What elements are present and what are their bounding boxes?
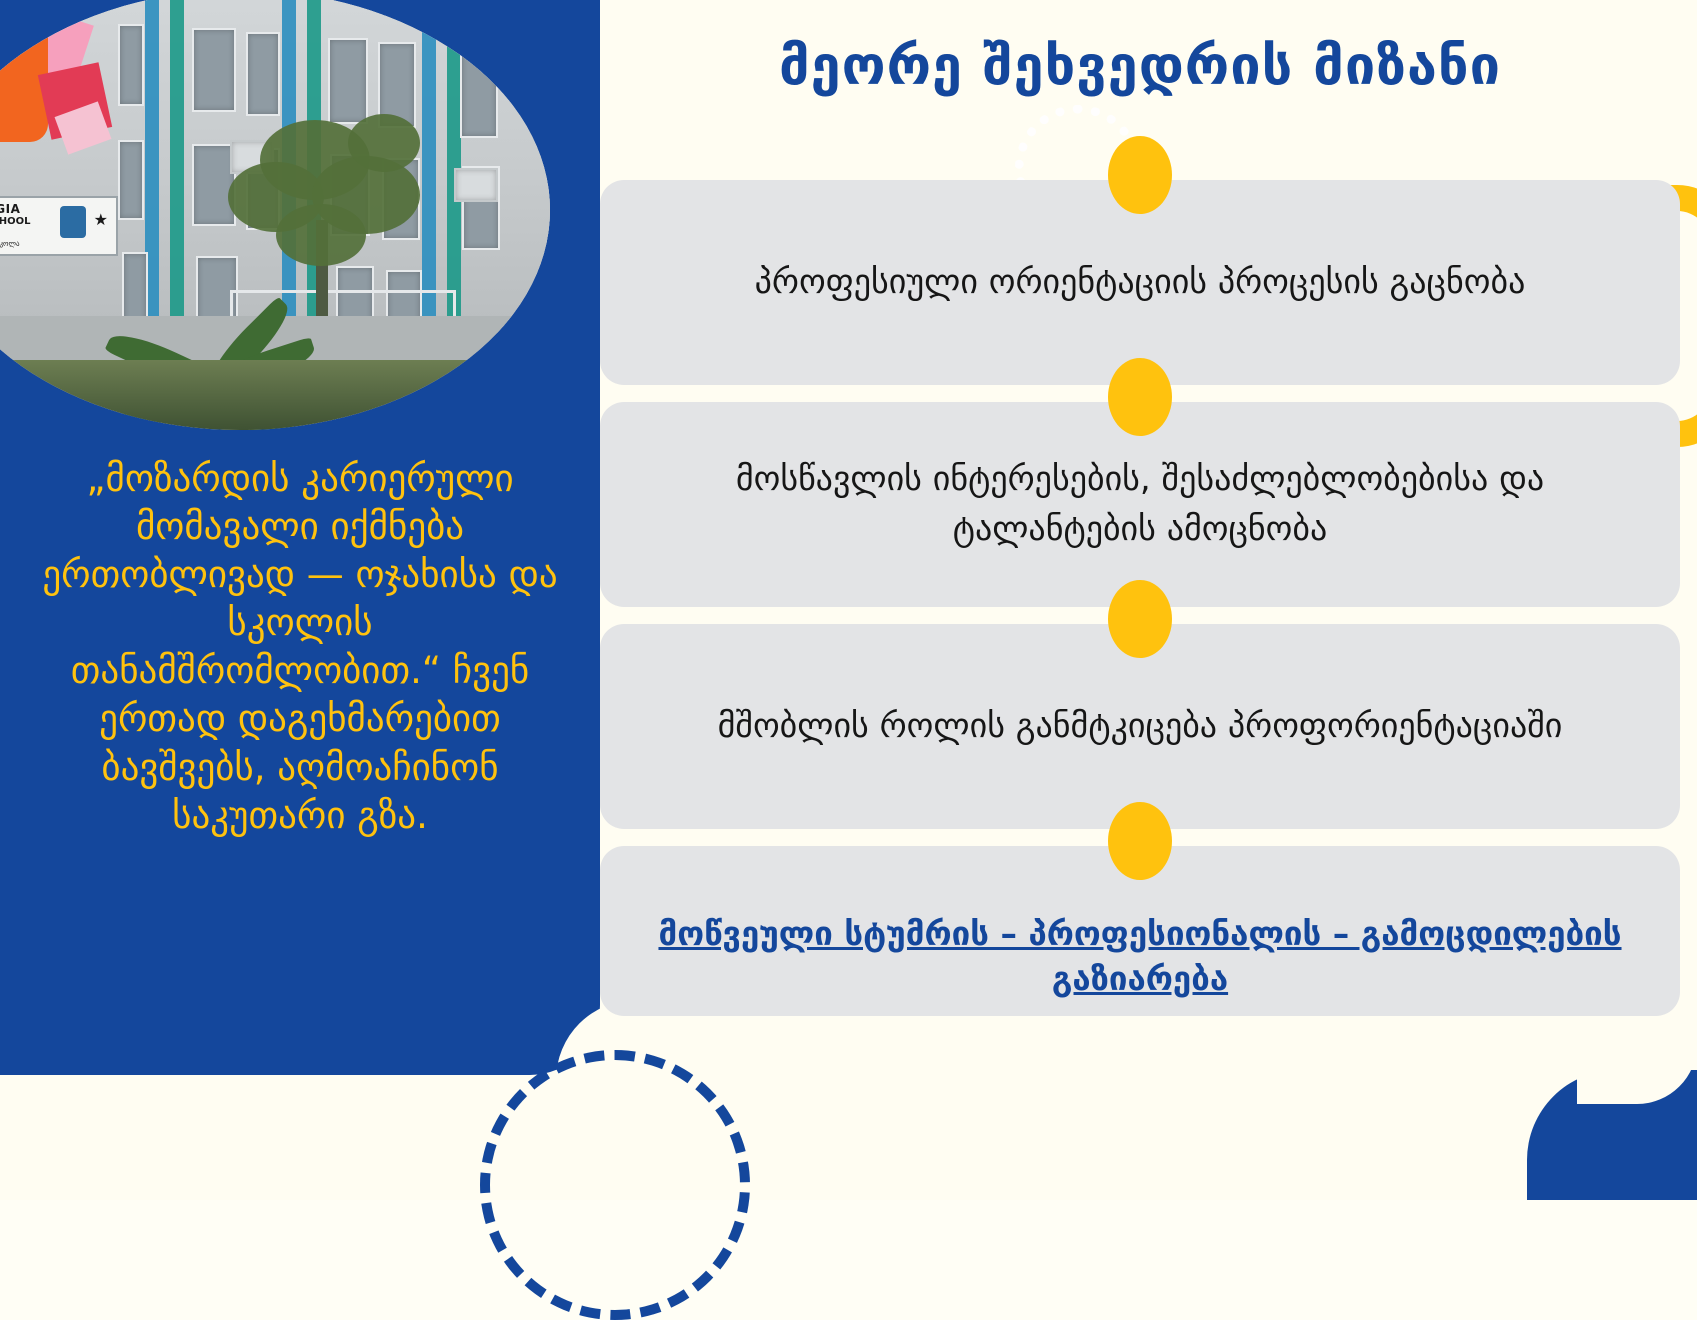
step-item: მშობლის როლის განმტკიცება პროფორიენტაცია… bbox=[600, 624, 1680, 829]
steps-flow: პროფესიული ორიენტაციის პროცესის გაცნობა … bbox=[600, 180, 1680, 1033]
ac-unit bbox=[454, 168, 498, 202]
step-item: პროფესიული ორიენტაციის პროცესის გაცნობა bbox=[600, 180, 1680, 385]
quote-text: „მოზარდის კარიერული მომავალი იქმნება ერთ… bbox=[0, 455, 600, 840]
step-item: მოსწავლის ინტერესების, შესაძლებლობებისა … bbox=[600, 402, 1680, 607]
step-dot-icon bbox=[1108, 802, 1172, 880]
mural-artwork bbox=[0, 10, 110, 180]
window bbox=[118, 140, 144, 220]
window bbox=[460, 50, 498, 138]
sign-line-4: ბაცილიტირებული სკოლა bbox=[0, 240, 20, 248]
left-panel: CA GEORGIA ILITATED SCHOOL ლშევნების ფონ… bbox=[0, 0, 600, 1075]
step-link-text[interactable]: მოწვეული სტუმრის – პროფესიონალის – გამოც… bbox=[646, 911, 1634, 1002]
school-sign: CA GEORGIA ILITATED SCHOOL ლშევნების ფონ… bbox=[0, 196, 118, 256]
facade-stripe bbox=[170, 0, 184, 333]
step-dot-icon bbox=[1108, 136, 1172, 214]
step-dot-icon bbox=[1108, 580, 1172, 658]
school-building-photo: CA GEORGIA ILITATED SCHOOL ლშევნების ფონ… bbox=[0, 0, 550, 430]
step-text: მოსწავლის ინტერესების, შესაძლებლობებისა … bbox=[646, 455, 1634, 554]
window bbox=[118, 24, 144, 106]
emblem-icon bbox=[60, 206, 86, 238]
building-block: CA GEORGIA ILITATED SCHOOL ლშევნების ფონ… bbox=[0, 0, 550, 333]
step-dot-icon bbox=[1108, 358, 1172, 436]
page-title: მეორე შეხვედრის მიზანი bbox=[600, 34, 1680, 97]
sign-line-2: ILITATED SCHOOL bbox=[0, 216, 31, 227]
hedge bbox=[0, 360, 550, 430]
step-text: მშობლის როლის განმტკიცება პროფორიენტაცია… bbox=[718, 702, 1563, 751]
slide-canvas: CA GEORGIA ILITATED SCHOOL ლშევნების ფონ… bbox=[0, 0, 1697, 1200]
blue-dashed-circle-decoration bbox=[480, 1050, 750, 1320]
step-item: მოწვეული სტუმრის – პროფესიონალის – გამოც… bbox=[600, 846, 1680, 1016]
step-text: პროფესიული ორიენტაციის პროცესის გაცნობა bbox=[755, 258, 1526, 307]
sign-line-1: CA GEORGIA bbox=[0, 202, 20, 216]
star-icon: ★ bbox=[94, 212, 108, 228]
